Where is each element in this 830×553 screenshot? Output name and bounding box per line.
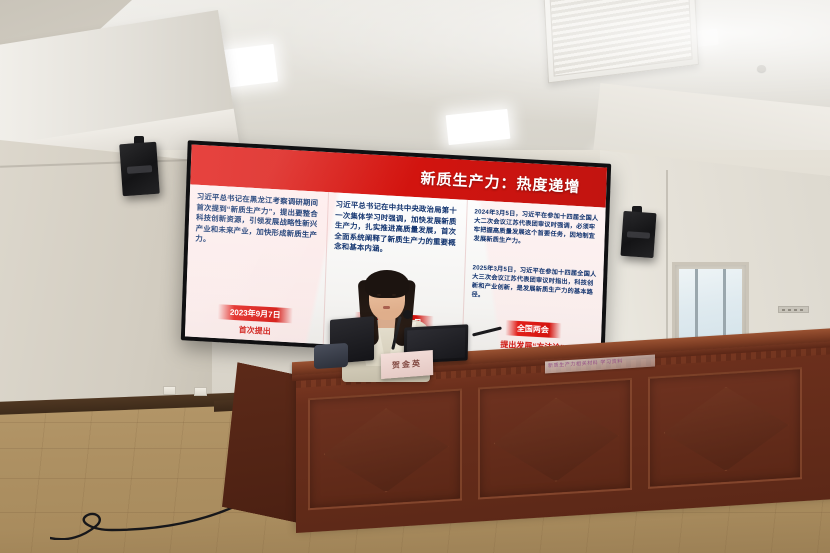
bag bbox=[314, 343, 348, 369]
ceiling-air-vent bbox=[543, 0, 699, 83]
presenter-mouth bbox=[383, 306, 390, 309]
column-caption: 首次提出 bbox=[238, 324, 270, 337]
smoke-detector-icon bbox=[757, 65, 766, 72]
screen-title: 新质生产力：热度递增 bbox=[420, 167, 581, 197]
podium-panel bbox=[648, 367, 802, 489]
wall-speaker-right-icon bbox=[620, 211, 656, 258]
column-body-text-secondary: 2025年3月5日，习近平在参加十四届全国人大三次会议江苏代表团审议时指出，科技… bbox=[471, 263, 598, 323]
column-body-text: 习近平总书记在黑龙江考察调研期间首次提到“新质生产力”，提出要整合科技创新资源，… bbox=[193, 192, 322, 308]
wall-outlet[interactable] bbox=[163, 386, 176, 395]
presenter-eye-left bbox=[377, 294, 381, 296]
desk-microphone-icon bbox=[403, 310, 412, 319]
column-date-badge: 2023年9月7日 bbox=[218, 304, 293, 323]
left-wall bbox=[0, 140, 212, 415]
presenter-eye-right bbox=[392, 294, 396, 296]
screen-column-first-proposal: 习近平总书记在黑龙江考察调研期间首次提到“新质生产力”，提出要整合科技创新资源，… bbox=[185, 184, 328, 344]
column-date-badge: 全国两会 bbox=[505, 320, 561, 338]
conference-room-scene: 新质生产力：热度递增 习近平总书记在黑龙江考察调研期间首次提到“新质生产力”，提… bbox=[0, 0, 830, 553]
wall-control-plate[interactable] bbox=[778, 306, 809, 313]
wall-corner-edge bbox=[666, 170, 668, 360]
presenter-hair-top bbox=[365, 270, 409, 298]
podium-panel bbox=[478, 378, 632, 500]
podium-panel bbox=[308, 389, 462, 511]
wall-outlet[interactable] bbox=[194, 387, 207, 396]
presenter-nameplate: 贺金英 bbox=[381, 350, 433, 379]
screen-column-two-sessions: 2024年3月5日，习近平在参加十四届全国人大二次会议江苏代表团审议时强调，必须… bbox=[462, 200, 606, 360]
column-body-text: 2024年3月5日，习近平在参加十四届全国人大二次会议江苏代表团审议时强调，必须… bbox=[473, 207, 600, 267]
ceiling-panel-light bbox=[446, 109, 511, 145]
wall-speaker-left-icon bbox=[119, 142, 160, 196]
nameplate-text: 贺金英 bbox=[392, 358, 422, 371]
